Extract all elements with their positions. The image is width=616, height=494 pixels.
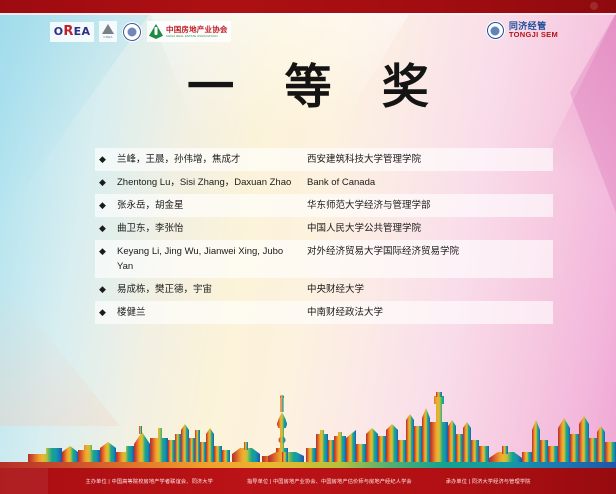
top-bar-dot-decoration: [590, 2, 598, 10]
award-authors: 曲卫东，李张怡: [117, 221, 307, 236]
china-logo-cn-text: 中国房地产业协会: [166, 26, 228, 34]
bullet-icon: ◆: [95, 244, 117, 259]
award-institution: 中南财经政法大学: [307, 305, 553, 320]
page-title: 一 等 奖: [0, 62, 616, 114]
slide-canvas: OREA CREA 中国房地产业协会 CHINA REAL ESTATE ASS…: [0, 0, 616, 494]
award-institution: Bank of Canada: [307, 175, 553, 190]
leaf-shield-icon: [149, 24, 163, 39]
crea-triangle-icon: [102, 24, 114, 34]
bullet-icon: ◆: [95, 152, 117, 167]
footer-advisor-text: 指导单位 | 中国房地产业协会、中国房地产估价师与房地产经纪人学会: [247, 478, 412, 485]
list-item: ◆ 曲卫东，李张怡 中国人民大学公共管理学院: [95, 217, 553, 240]
award-authors: 张永岳，胡金星: [117, 198, 307, 213]
sponsor-logo-group: OREA CREA 中国房地产业协会 CHINA REAL ESTATE ASS…: [50, 21, 231, 42]
award-institution: 西安建筑科技大学管理学院: [307, 152, 553, 167]
china-real-estate-association-logo: 中国房地产业协会 CHINA REAL ESTATE ASSOCIATION: [147, 21, 231, 42]
list-item: ◆ 楼健兰 中南财经政法大学: [95, 301, 553, 324]
city-skyline-graphic: [0, 390, 616, 468]
award-authors: Keyang Li, Jing Wu, Jianwei Xing, Jubo Y…: [117, 244, 307, 274]
china-logo-text-block: 中国房地产业协会 CHINA REAL ESTATE ASSOCIATION: [166, 26, 228, 38]
footer-red-bar: 主办单位 | 中国高等院校房地产学者联谊会、同济大学 指导单位 | 中国房地产业…: [0, 468, 616, 494]
list-item: ◆ Zhentong Lu，Sisi Zhang，Daxuan Zhao Ban…: [95, 171, 553, 194]
tongji-logo-text-block: 同济经管 TONGJI SEM: [509, 22, 558, 39]
seal-inner-core: [128, 27, 137, 36]
award-authors: 易成栋，樊正德，宇宙: [117, 282, 307, 297]
list-item: ◆ 兰峰，王晨，孙伟增，焦成才 西安建筑科技大学管理学院: [95, 148, 553, 171]
award-authors: 兰峰，王晨，孙伟增，焦成才: [117, 152, 307, 167]
award-institution: 对外经济贸易大学国际经济贸易学院: [307, 244, 553, 259]
award-authors: 楼健兰: [117, 305, 307, 320]
decorative-polygon-right-top: [546, 13, 616, 243]
award-institution: 中国人民大学公共管理学院: [307, 221, 553, 236]
list-item: ◆ 易成栋，樊正德，宇宙 中央财经大学: [95, 278, 553, 301]
award-institution: 中央财经大学: [307, 282, 553, 297]
award-list: ◆ 兰峰，王晨，孙伟增，焦成才 西安建筑科技大学管理学院 ◆ Zhentong …: [95, 148, 553, 324]
top-bar-highlight-edge: [0, 13, 616, 15]
bullet-icon: ◆: [95, 221, 117, 236]
list-item: ◆ Keyang Li, Jing Wu, Jianwei Xing, Jubo…: [95, 240, 553, 278]
footer-organizer-text: 主办单位 | 中国高等院校房地产学者联谊会、同济大学: [85, 478, 212, 485]
orea-logo: OREA: [50, 22, 94, 42]
bullet-icon: ◆: [95, 198, 117, 213]
list-item: ◆ 张永岳，胡金星 华东师范大学经济与管理学部: [95, 194, 553, 217]
footer-left-block-decoration: [0, 468, 48, 494]
crea-logo-subtext: CREA: [103, 35, 112, 39]
award-authors: Zhentong Lu，Sisi Zhang，Daxuan Zhao: [117, 175, 307, 190]
top-red-bar: [0, 0, 616, 13]
footer-host-text: 承办单位 | 同济大学经济与管理学院: [446, 478, 531, 485]
university-seal-icon: [122, 22, 142, 42]
crea-logo: CREA: [99, 21, 117, 42]
bullet-icon: ◆: [95, 175, 117, 190]
bullet-icon: ◆: [95, 282, 117, 297]
china-logo-en-text: CHINA REAL ESTATE ASSOCIATION: [166, 35, 228, 38]
tongji-seal-icon: [486, 21, 505, 40]
orea-logo-text: OREA: [54, 25, 91, 38]
award-institution: 华东师范大学经济与管理学部: [307, 198, 553, 213]
tongji-seal-core: [491, 26, 500, 35]
tongji-logo-en-text: TONGJI SEM: [509, 31, 558, 39]
bullet-icon: ◆: [95, 305, 117, 320]
tongji-sem-logo: 同济经管 TONGJI SEM: [486, 21, 558, 40]
